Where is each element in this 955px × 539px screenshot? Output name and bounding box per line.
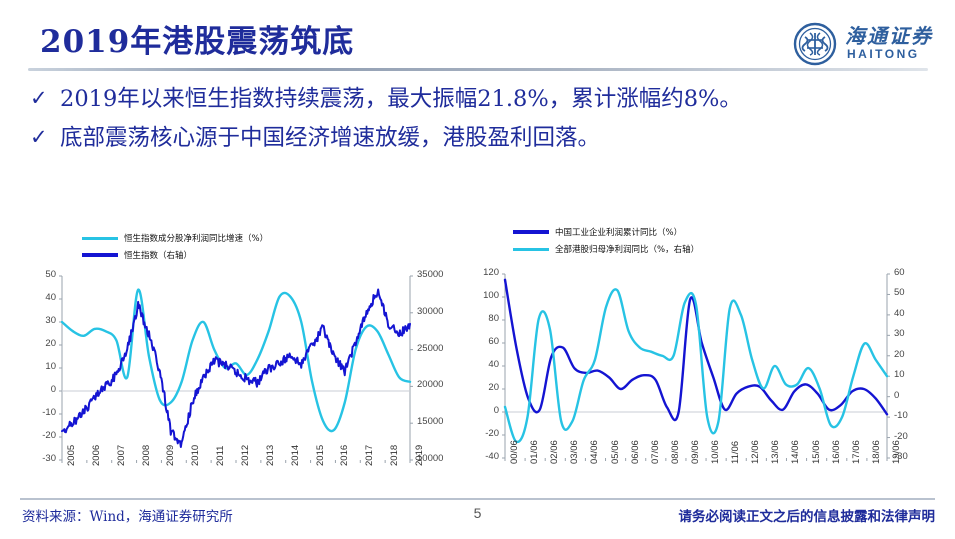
bullet-item: ✓ 底部震荡核心源于中国经济增速放缓，港股盈利回落。 <box>30 123 930 153</box>
x-axis-tick-label: 00/06 <box>509 440 520 464</box>
x-axis-tick-label: 2008 <box>141 445 152 466</box>
slide-root: 2019年港股震荡筑底 海通证券 HAITONG ✓ 2019年以来恒生指数持续… <box>0 0 955 539</box>
haitong-logo: 海通证券 HAITONG <box>793 20 943 68</box>
series-line <box>62 290 410 447</box>
x-axis-tick-label: 14/06 <box>790 440 801 464</box>
y-axis-tick-label: 40 <box>22 292 56 303</box>
y-axis-tick-label: 100 <box>467 290 499 301</box>
x-axis-tick-label: 2012 <box>240 445 251 466</box>
x-axis-tick-label: 2019 <box>414 445 425 466</box>
bullet-list: ✓ 2019年以来恒生指数持续震荡，最大振幅21.8%，累计涨幅约8%。 ✓ 底… <box>30 84 930 163</box>
x-axis-tick-label: 04/06 <box>589 440 600 464</box>
legend-label: 中国工业企业利润累计同比（%） <box>555 226 682 238</box>
x-axis-tick-label: 2013 <box>265 445 276 466</box>
y-axis-tick-label: -20 <box>467 428 499 439</box>
x-axis-tick-label: 2006 <box>91 445 102 466</box>
y-axis-tick-label: 20 <box>22 338 56 349</box>
y2-axis-tick-label: 60 <box>894 267 905 278</box>
x-axis-tick-label: 18/06 <box>871 440 882 464</box>
y2-axis-tick-label: 20 <box>894 349 905 360</box>
y-axis-tick-label: 80 <box>467 313 499 324</box>
y-axis-tick-label: 60 <box>467 336 499 347</box>
chart-profit-growth: 中国工业企业利润累计同比（%） 全部港股归母净利润同比（%，右轴） 120100… <box>465 222 935 477</box>
x-axis-tick-label: 2014 <box>290 445 301 466</box>
chart-svg <box>465 268 935 468</box>
x-axis-tick-label: 2007 <box>116 445 127 466</box>
y-axis-tick-label: 30 <box>22 315 56 326</box>
y2-axis-tick-label: 35000 <box>417 269 443 280</box>
chart-svg <box>20 270 460 470</box>
x-axis-tick-label: 2018 <box>389 445 400 466</box>
y2-axis-tick-label: 30000 <box>417 306 443 317</box>
x-axis-tick-label: 2011 <box>215 446 226 466</box>
y-axis-tick-label: 50 <box>22 269 56 280</box>
legend-swatch-blue <box>82 253 118 257</box>
bullet-text: 2019年以来恒生指数持续震荡，最大振幅21.8%，累计涨幅约8%。 <box>60 84 930 114</box>
x-axis-tick-label: 2015 <box>315 445 326 466</box>
y2-axis-tick-label: 30 <box>894 328 905 339</box>
legend-swatch-cyan <box>82 237 118 240</box>
x-axis-tick-label: 13/06 <box>770 440 781 464</box>
footer-disclaimer: 请务必阅读正文之后的信息披露和法律声明 <box>679 505 936 525</box>
x-axis-tick-label: 16/06 <box>831 440 842 464</box>
x-axis-tick-label: 03/06 <box>569 440 580 464</box>
legend-entry: 中国工业企业利润累计同比（%） <box>513 226 699 238</box>
x-axis-tick-label: 10/06 <box>710 440 721 464</box>
series-line <box>505 289 887 442</box>
legend-entry: 恒生指数（右轴） <box>82 249 268 261</box>
x-axis-tick-label: 05/06 <box>610 440 621 464</box>
chart-plot-area <box>465 268 935 468</box>
y2-axis-tick-label: 25000 <box>417 343 443 354</box>
legend-swatch-blue <box>513 230 549 234</box>
footer-divider <box>20 498 935 500</box>
y2-axis-tick-label: 50 <box>894 287 905 298</box>
y2-axis-tick-label: 10 <box>894 369 905 380</box>
x-axis-tick-label: 19/06 <box>891 440 902 464</box>
y-axis-tick-label: 10 <box>22 361 56 372</box>
logo-en-name: HAITONG <box>847 47 920 61</box>
logo-cn-name: 海通证券 <box>845 20 933 49</box>
y-axis-tick-label: 20 <box>467 382 499 393</box>
x-axis-tick-label: 2010 <box>190 445 201 466</box>
y-axis-tick-label: -40 <box>467 451 499 462</box>
x-axis-tick-label: 15/06 <box>811 440 822 464</box>
bullet-text: 底部震荡核心源于中国经济增速放缓，港股盈利回落。 <box>60 123 930 153</box>
chart-legend: 恒生指数成分股净利润同比增速（%） 恒生指数（右轴） <box>82 232 268 266</box>
y2-axis-tick-label: 15000 <box>417 416 443 427</box>
y2-axis-tick-label: -10 <box>894 410 908 421</box>
y-axis-tick-label: -20 <box>22 430 56 441</box>
x-axis-tick-label: 2017 <box>364 445 375 466</box>
x-axis-tick-label: 2009 <box>165 445 176 466</box>
x-axis-tick-label: 08/06 <box>670 440 681 464</box>
x-axis-tick-label: 17/06 <box>851 440 862 464</box>
check-icon: ✓ <box>30 123 60 151</box>
x-axis-tick-label: 12/06 <box>750 440 761 464</box>
legend-swatch-cyan <box>513 248 549 251</box>
y2-axis-tick-label: 20000 <box>417 379 443 390</box>
legend-entry: 全部港股归母净利润同比（%，右轴） <box>513 243 699 255</box>
y2-axis-tick-label: 0 <box>894 390 899 401</box>
x-axis-tick-label: 02/06 <box>549 440 560 464</box>
x-axis-tick-label: 2016 <box>339 445 350 466</box>
series-line <box>62 290 410 431</box>
y-axis-tick-label: 0 <box>22 384 56 395</box>
page-title: 2019年港股震荡筑底 <box>40 16 354 61</box>
x-axis-tick-label: 2005 <box>66 445 77 466</box>
bullet-item: ✓ 2019年以来恒生指数持续震荡，最大振幅21.8%，累计涨幅约8%。 <box>30 84 930 114</box>
y2-axis-tick-label: 40 <box>894 308 905 319</box>
x-axis-tick-label: 09/06 <box>690 440 701 464</box>
y-axis-tick-label: 40 <box>467 359 499 370</box>
y-axis-tick-label: 0 <box>467 405 499 416</box>
y-axis-tick-label: 120 <box>467 267 499 278</box>
check-icon: ✓ <box>30 84 60 112</box>
x-axis-tick-label: 07/06 <box>650 440 661 464</box>
chart-legend: 中国工业企业利润累计同比（%） 全部港股归母净利润同比（%，右轴） <box>513 226 699 260</box>
chart-plot-area <box>20 270 460 470</box>
haitong-emblem-icon <box>793 22 837 71</box>
legend-label: 恒生指数成分股净利润同比增速（%） <box>124 232 268 244</box>
legend-label: 恒生指数（右轴） <box>124 249 192 261</box>
legend-entry: 恒生指数成分股净利润同比增速（%） <box>82 232 268 244</box>
y-axis-tick-label: -10 <box>22 407 56 418</box>
chart-hsi-earnings: 恒生指数成分股净利润同比增速（%） 恒生指数（右轴） 50403020100-1… <box>20 228 460 478</box>
x-axis-tick-label: 06/06 <box>630 440 641 464</box>
x-axis-tick-label: 11/06 <box>730 441 741 464</box>
legend-label: 全部港股归母净利润同比（%，右轴） <box>555 243 699 255</box>
y-axis-tick-label: -30 <box>22 453 56 464</box>
x-axis-tick-label: 01/06 <box>529 440 540 464</box>
